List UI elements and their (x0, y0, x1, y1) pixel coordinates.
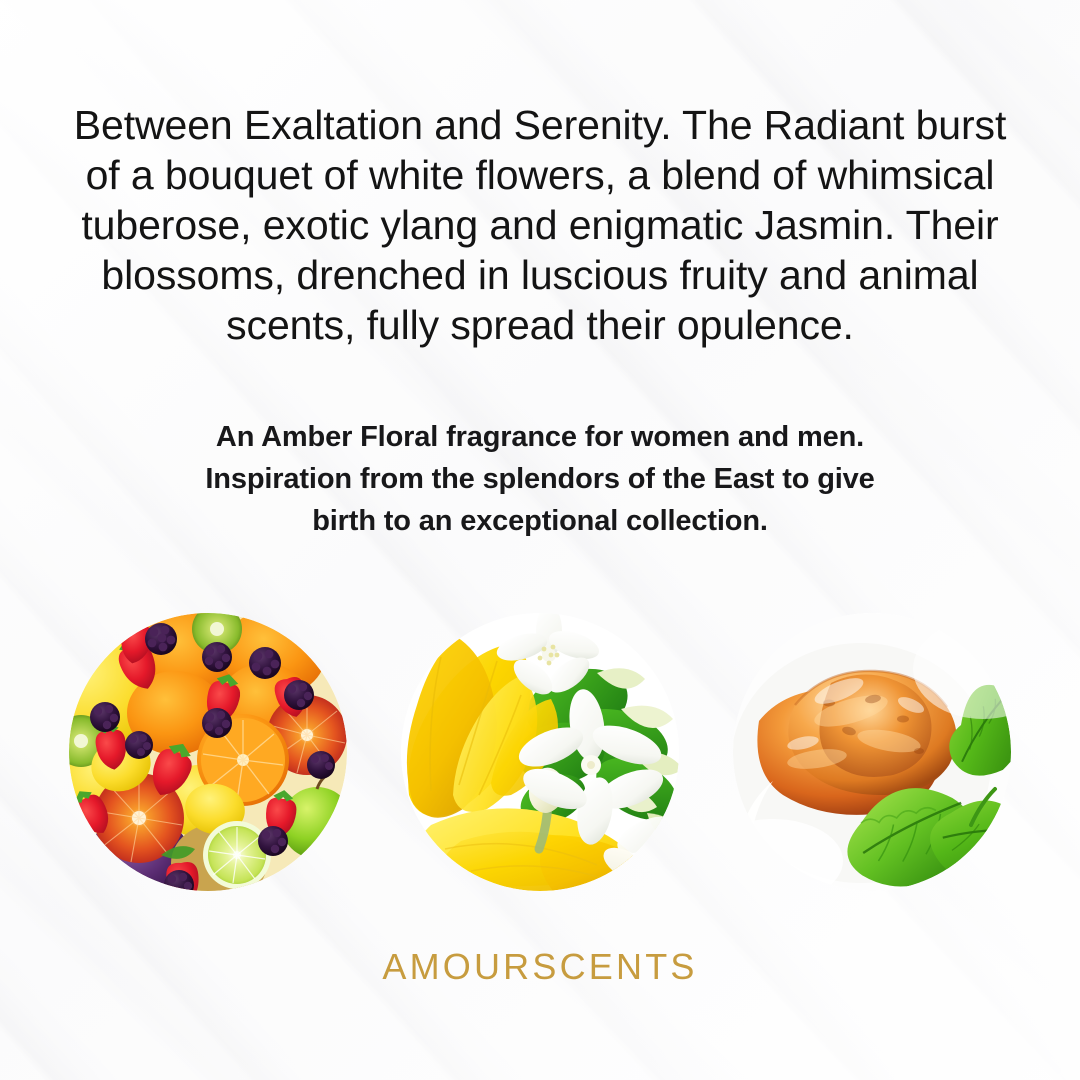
brand-wordmark: AMOURSCENTS (0, 945, 1080, 989)
amber-resin-circle-image (733, 613, 1011, 891)
ingredient-circle-row (0, 613, 1080, 891)
fragrance-promo-card: Between Exaltation and Serenity. The Rad… (0, 0, 1080, 1080)
ylang-jasmine-circle-image (401, 613, 679, 891)
fruit-medley-circle-image (69, 613, 347, 891)
lead-description-text: Between Exaltation and Serenity. The Rad… (0, 100, 1080, 350)
sub-description-text: An Amber Floral fragrance for women and … (0, 416, 1080, 542)
